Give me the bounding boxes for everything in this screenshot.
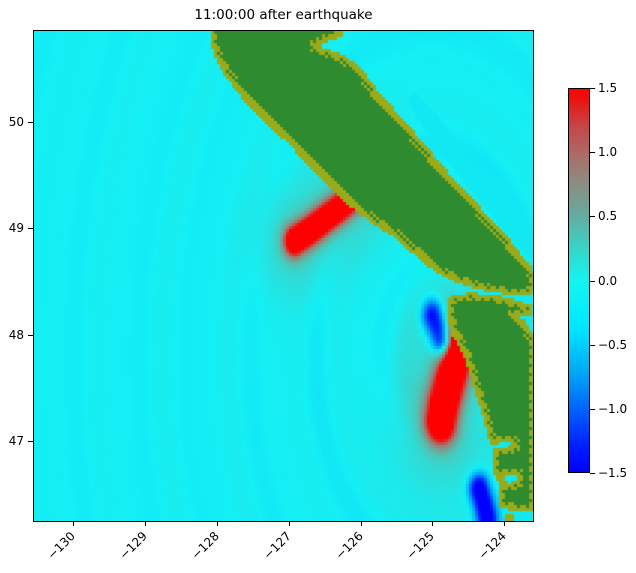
colorbar-tick-mark: [590, 152, 595, 153]
colorbar-tick-label: 0.5: [598, 209, 617, 223]
colorbar-tick-label: −1.0: [598, 402, 627, 416]
colorbar-gradient: [568, 88, 590, 473]
colorbar-tick-label: 1.0: [598, 145, 617, 159]
plot-title: 11:00:00 after earthquake: [33, 6, 534, 24]
x-tick-label: −125: [404, 529, 437, 562]
x-tick-label: −129: [117, 529, 150, 562]
x-tick-mark: [145, 522, 146, 526]
colorbar-tick-mark: [590, 88, 595, 89]
colorbar-tick-mark: [590, 473, 595, 474]
figure-canvas: 11:00:00 after earthquake −130−129−128−1…: [0, 0, 636, 573]
x-tick-label: −130: [45, 529, 78, 562]
colorbar-tick-mark: [590, 345, 595, 346]
x-tick-label: −124: [476, 529, 509, 562]
x-tick-mark: [73, 522, 74, 526]
y-tick-label: 49: [2, 221, 24, 235]
colorbar-tick-label: −1.5: [598, 466, 627, 480]
x-tick-label: −126: [332, 529, 365, 562]
x-tick-mark: [432, 522, 433, 526]
x-tick-mark: [217, 522, 218, 526]
y-tick-label: 50: [2, 115, 24, 129]
y-tick-mark: [28, 441, 33, 442]
y-tick-mark: [28, 122, 33, 123]
y-tick-label: 47: [2, 434, 24, 448]
x-tick-label: −128: [189, 529, 222, 562]
colorbar-tick-label: −0.5: [598, 338, 627, 352]
y-tick-mark: [28, 228, 33, 229]
x-tick-label: −127: [261, 529, 294, 562]
colorbar-tick-label: 0.0: [598, 274, 617, 288]
x-tick-mark: [289, 522, 290, 526]
y-tick-label: 48: [2, 328, 24, 342]
colorbar-tick-mark: [590, 281, 595, 282]
colorbar-tick-mark: [590, 216, 595, 217]
x-tick-mark: [504, 522, 505, 526]
x-tick-mark: [361, 522, 362, 526]
colorbar-tick-mark: [590, 409, 595, 410]
tsunami-heatmap: [34, 31, 533, 521]
y-tick-mark: [28, 335, 33, 336]
colorbar-tick-label: 1.5: [598, 81, 617, 95]
map-axes: [33, 30, 534, 522]
